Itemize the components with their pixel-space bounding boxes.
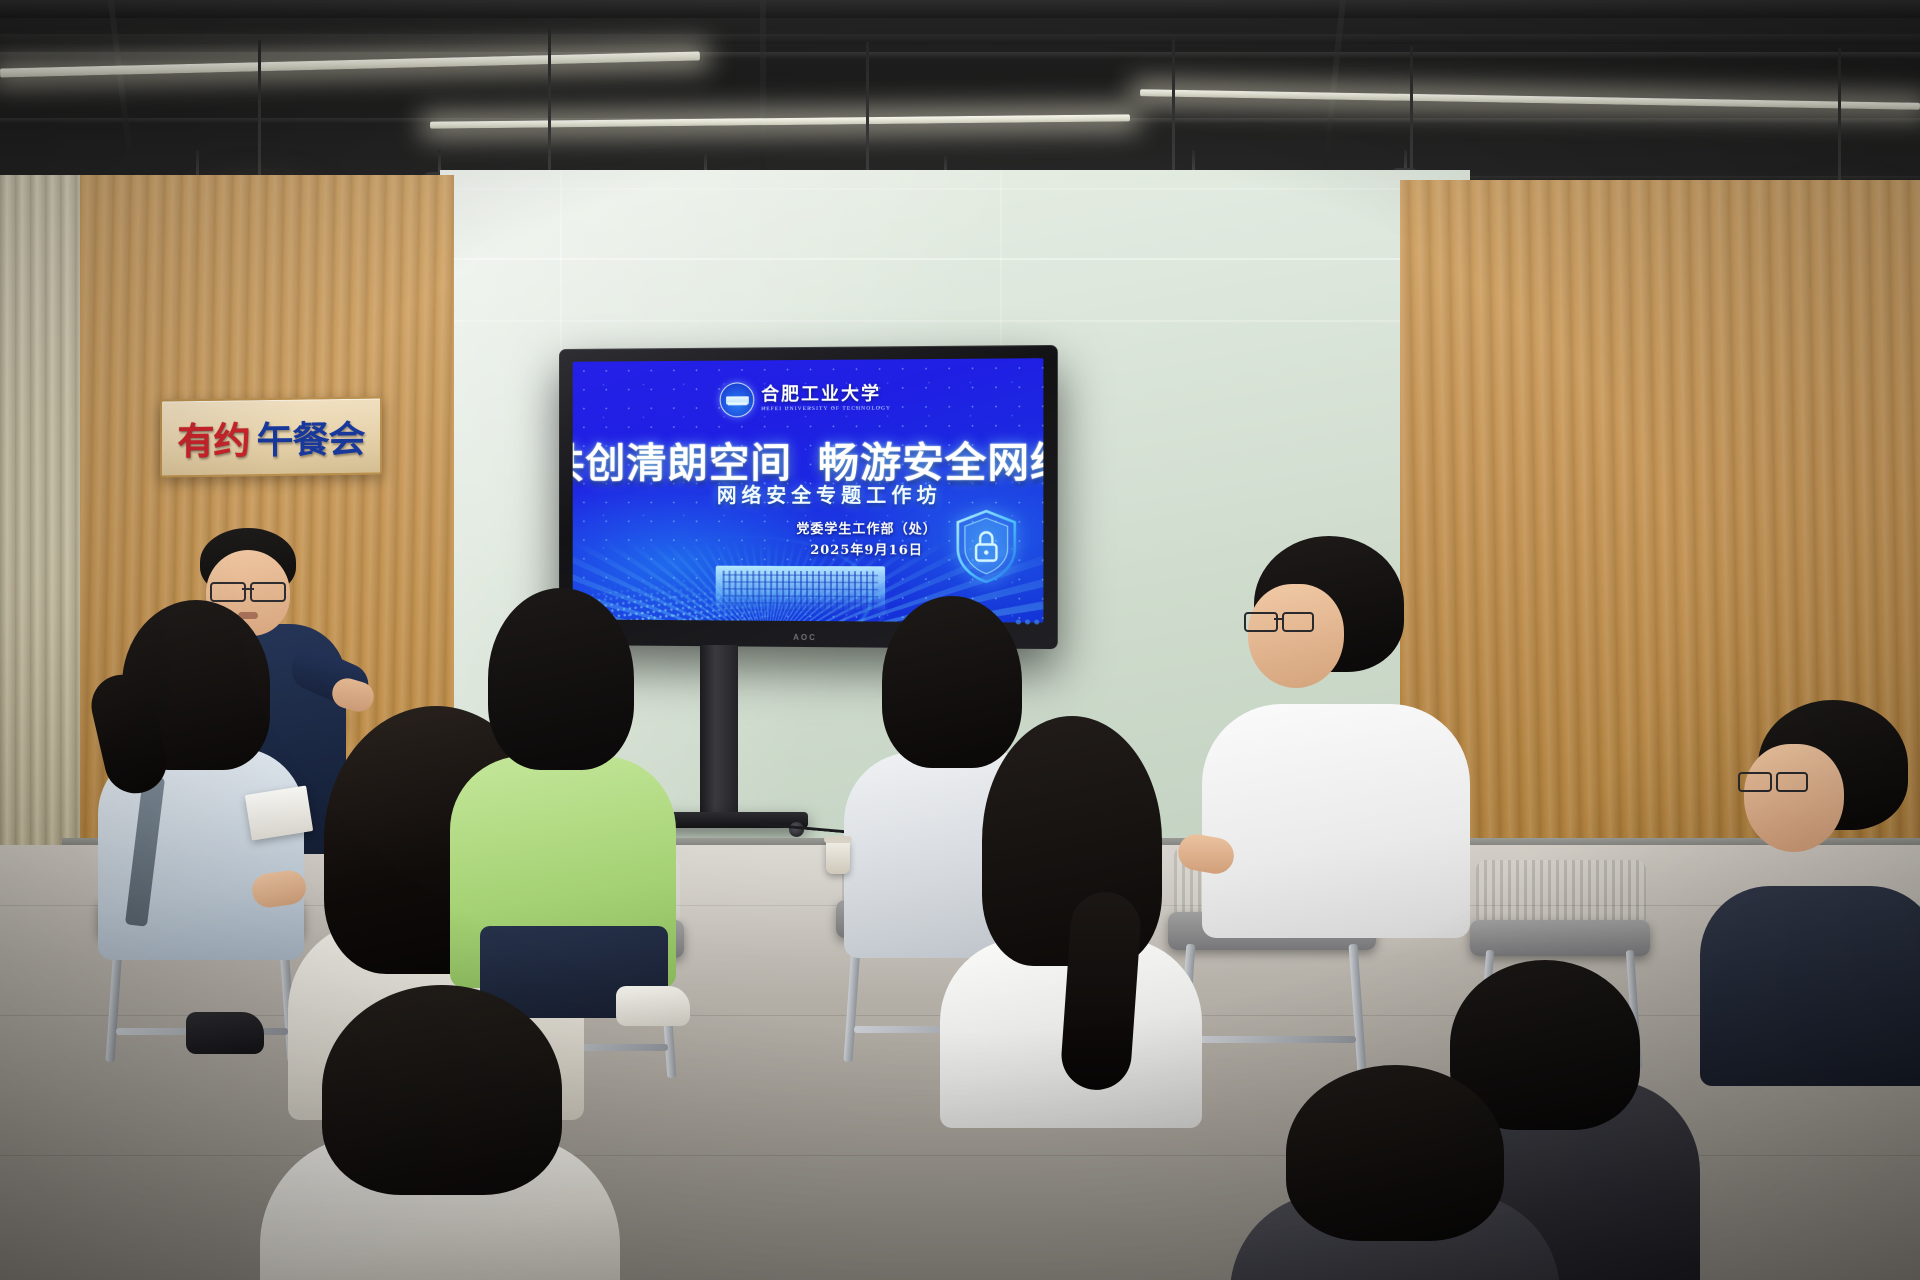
attendee-3 xyxy=(440,588,690,988)
display-stand-column xyxy=(700,645,738,820)
attendee-7 xyxy=(1700,700,1920,1080)
attendee-7-glasses-icon xyxy=(1738,772,1808,788)
shoe xyxy=(616,986,690,1026)
attendee-5 xyxy=(930,716,1210,1116)
presentation-slide: 合肥工业大学 HEFEI UNIVERSITY OF TECHNOLOGY 共创… xyxy=(573,358,1044,622)
slide-date: 2025年9月16日 xyxy=(810,539,923,558)
shield-lock-icon xyxy=(954,509,1019,586)
slide-organizer: 党委学生工作部（处） xyxy=(796,518,937,537)
attendee-6-head xyxy=(1248,584,1344,688)
university-emblem-icon xyxy=(720,382,755,417)
attendee-7-head xyxy=(1744,744,1844,852)
presenter-glasses-icon xyxy=(210,582,286,598)
wall-sign-text-blue: 午餐会 xyxy=(257,409,365,465)
seminar-room-photo: 有约 午餐会 LEIYUN-17IUC58V xyxy=(0,0,1920,1280)
attendee-6 xyxy=(1196,536,1476,936)
display-brand-label: AOC xyxy=(793,633,817,642)
wall-sign-text-red: 有约 xyxy=(178,410,250,465)
attendee-9-hair xyxy=(322,985,562,1195)
slide-subtitle: 网络安全专题工作坊 xyxy=(717,479,942,508)
university-name-en: HEFEI UNIVERSITY OF TECHNOLOGY xyxy=(761,407,891,413)
university-name-cn: 合肥工业大学 xyxy=(761,386,891,405)
university-logo: 合肥工业大学 HEFEI UNIVERSITY OF TECHNOLOGY xyxy=(720,382,892,418)
attendee-10 xyxy=(1230,1065,1560,1280)
shoe xyxy=(186,1012,264,1054)
attendee-10-hair xyxy=(1286,1065,1504,1241)
attendee-5-ponytail xyxy=(1059,890,1143,1092)
attendee-6-torso xyxy=(1202,704,1470,938)
attendee-3-hair xyxy=(488,588,634,770)
attendee-7-torso xyxy=(1700,886,1920,1086)
paper-cup[interactable] xyxy=(826,840,850,874)
attendee-6-glasses-icon xyxy=(1244,612,1314,628)
wall-sign-lunch-meeting: 有约 午餐会 xyxy=(160,396,382,477)
attendee-9 xyxy=(260,985,620,1280)
